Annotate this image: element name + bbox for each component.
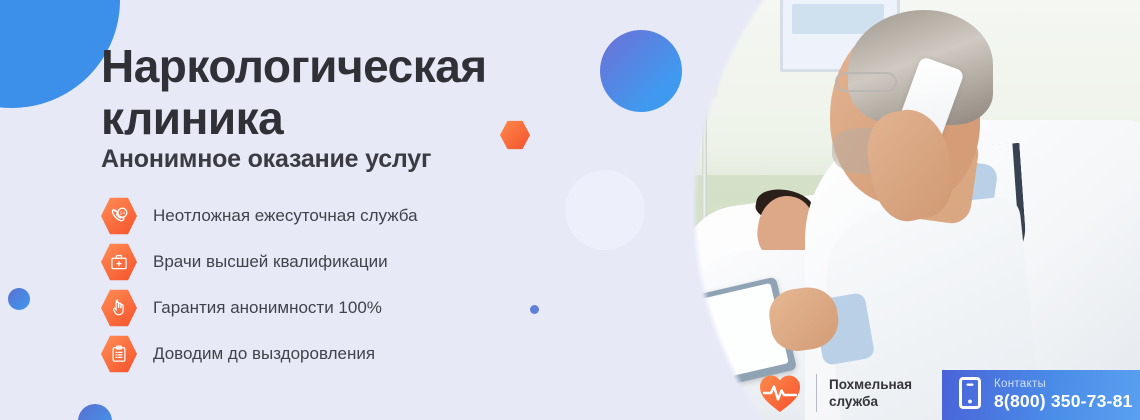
mobile-phone-icon (959, 377, 981, 414)
page-title: Наркологическая клиника (101, 40, 571, 144)
list-item: Врачи высшей квалификации (101, 240, 418, 284)
list-item: Доводим до выздоровления (101, 332, 418, 376)
medical-case-icon (101, 243, 137, 281)
brand-logo[interactable]: Похмельная служба (758, 372, 912, 414)
hand-gesture-icon (101, 289, 137, 327)
page-subtitle: Анонимное оказание услуг (101, 145, 431, 174)
clipboard-list-icon (101, 335, 137, 373)
list-item: Гарантия анонимности 100% (101, 286, 418, 330)
hero-photo (530, 0, 1140, 420)
contacts-label: Контакты (994, 378, 1132, 390)
list-item-label: Неотложная ежесуточная служба (153, 206, 418, 226)
decorative-circle-bottom (78, 404, 112, 420)
svg-text:24: 24 (120, 211, 126, 216)
logo-text: Похмельная служба (829, 376, 912, 410)
logo-divider (816, 374, 817, 412)
list-item-label: Врачи высшей квалификации (153, 252, 388, 272)
decorative-dot-left (8, 288, 30, 310)
list-item: 24 Неотложная ежесуточная служба (101, 194, 418, 238)
heart-pulse-icon (758, 372, 802, 414)
contacts-block[interactable]: Контакты 8(800) 350-73-81 (942, 370, 1140, 420)
phone-24h-icon: 24 (101, 197, 137, 235)
list-item-label: Доводим до выздоровления (153, 344, 375, 364)
contacts-text: Контакты 8(800) 350-73-81 (994, 378, 1132, 412)
photo-fade-overlay (530, 0, 1140, 420)
feature-list: 24 Неотложная ежесуточная служба Врачи в… (101, 194, 418, 378)
contacts-phone-number[interactable]: 8(800) 350-73-81 (994, 391, 1132, 412)
list-item-label: Гарантия анонимности 100% (153, 298, 382, 318)
hero-banner: Наркологическая клиника Анонимное оказан… (0, 0, 1140, 420)
